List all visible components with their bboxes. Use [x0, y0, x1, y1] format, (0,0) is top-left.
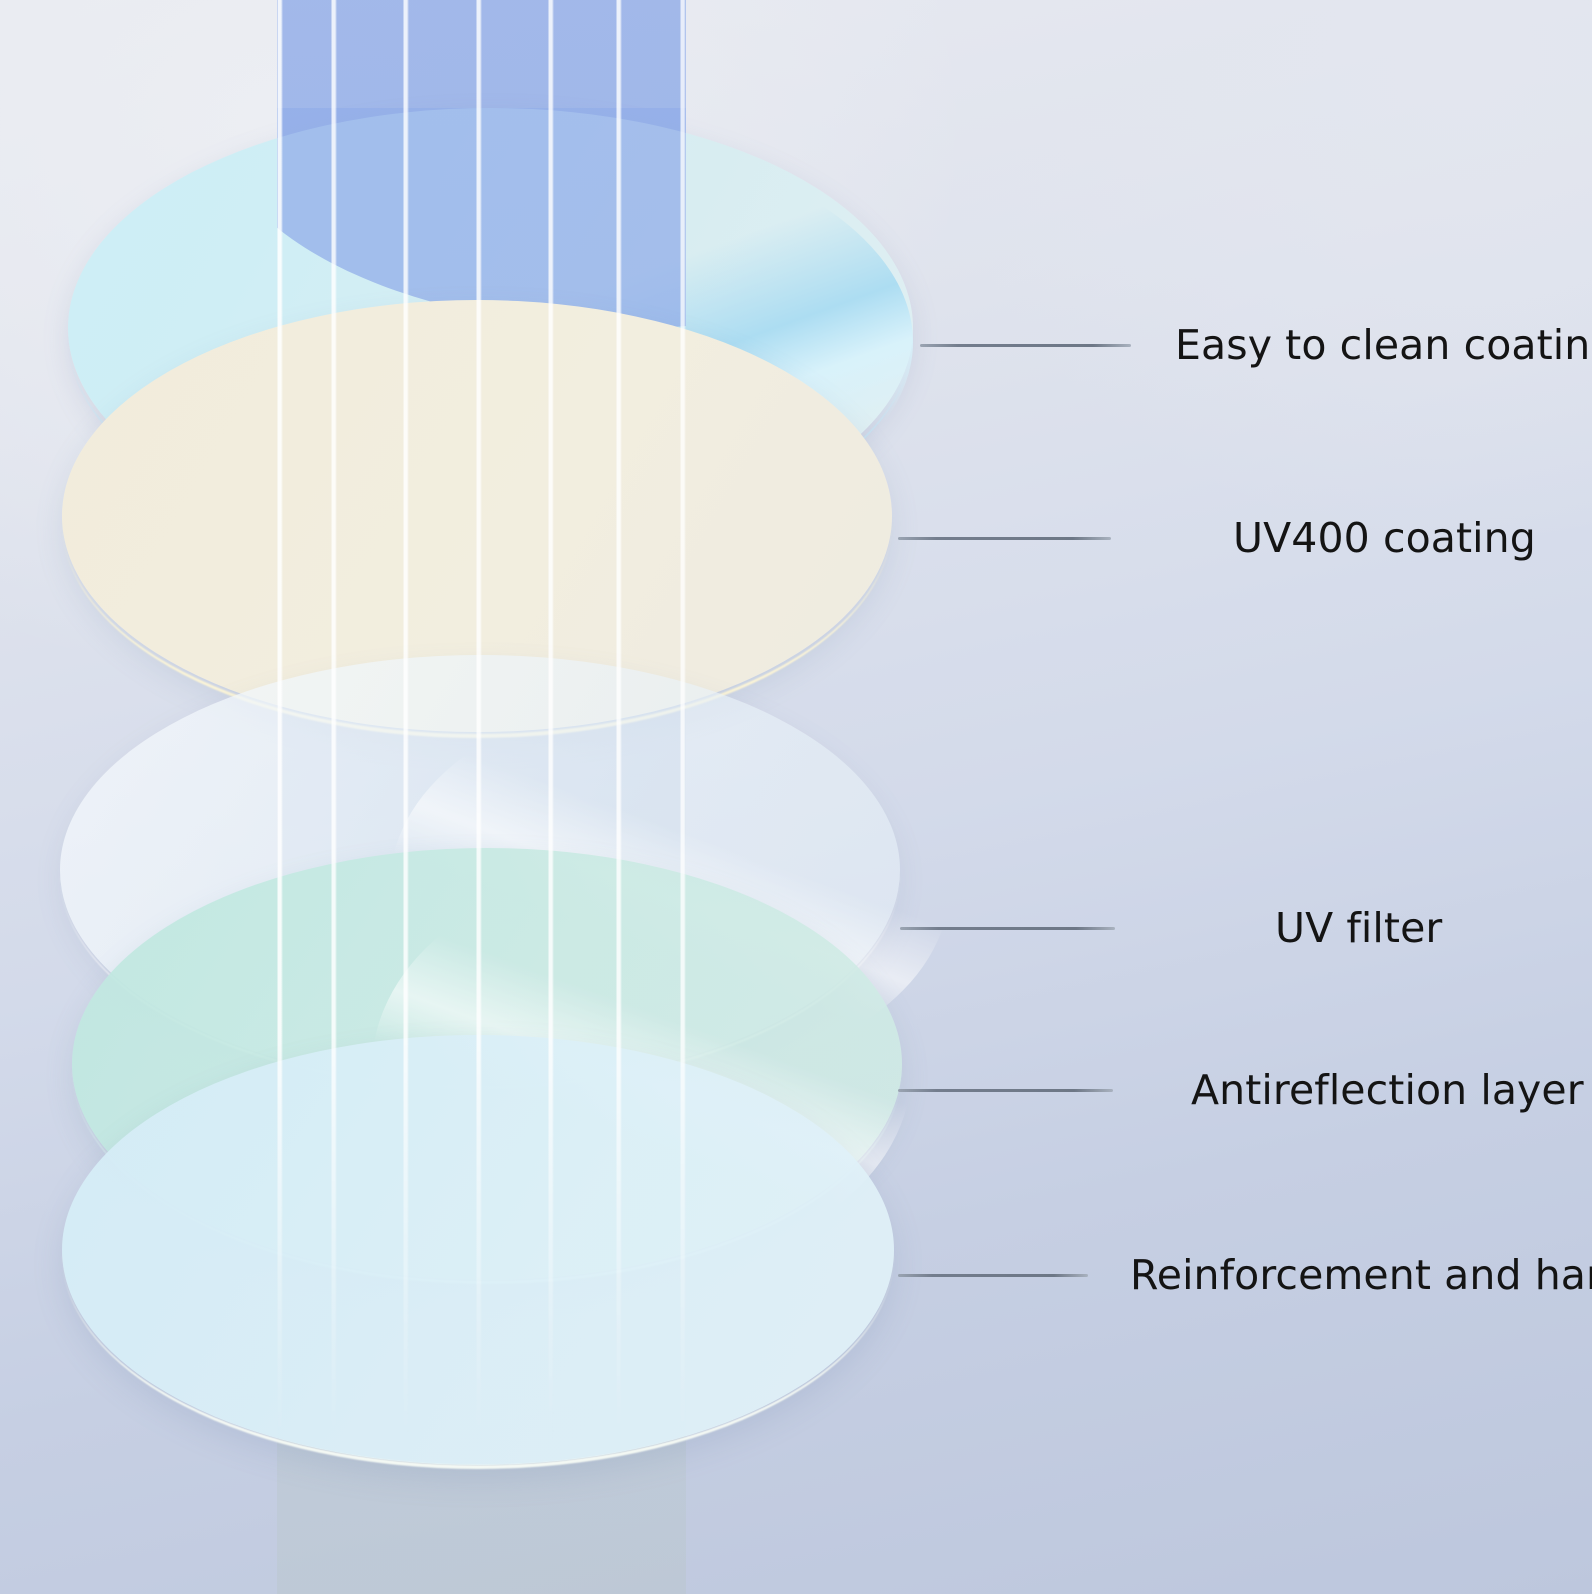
- layer-disc-easy-to-clean: [68, 108, 913, 548]
- light-beam-tail: [277, 1055, 686, 1594]
- layer-disc-uv400: [62, 300, 892, 732]
- light-beam-upper: [277, 0, 686, 470]
- callout-antireflection: Antireflection layer: [898, 1070, 1584, 1111]
- callout-reinforcement: Reinforcement and harding: [898, 1255, 1592, 1296]
- light-beam-on-layer-1: [277, 108, 686, 508]
- layer-disc-uv-filter: [60, 655, 900, 1085]
- leader-line-uv-filter: [900, 927, 1115, 930]
- callout-uv-filter: UV filter: [900, 908, 1442, 949]
- layer-disc-antireflection: [72, 848, 902, 1280]
- leader-line-easy-to-clean: [920, 344, 1131, 347]
- label-easy-to-clean: Easy to clean coating: [1175, 325, 1592, 366]
- leader-line-uv400: [898, 537, 1111, 540]
- label-uv400: UV400 coating: [1233, 518, 1536, 559]
- label-antireflection: Antireflection layer: [1191, 1070, 1584, 1111]
- lens-layer-diagram: Easy to clean coating UV400 coating UV f…: [0, 0, 1592, 1594]
- light-beam-mid: [277, 470, 686, 710]
- label-uv-filter: UV filter: [1275, 908, 1442, 949]
- light-beam-ray-lines: [277, 0, 686, 1440]
- label-reinforcement: Reinforcement and harding: [1130, 1255, 1592, 1296]
- callout-uv400: UV400 coating: [898, 518, 1536, 559]
- callout-easy-to-clean: Easy to clean coating: [920, 325, 1592, 366]
- light-beam-lower: [277, 710, 686, 1055]
- leader-line-antireflection: [898, 1089, 1113, 1092]
- leader-line-reinforcement: [898, 1274, 1088, 1277]
- layer-disc-reinforcement: [62, 1035, 894, 1465]
